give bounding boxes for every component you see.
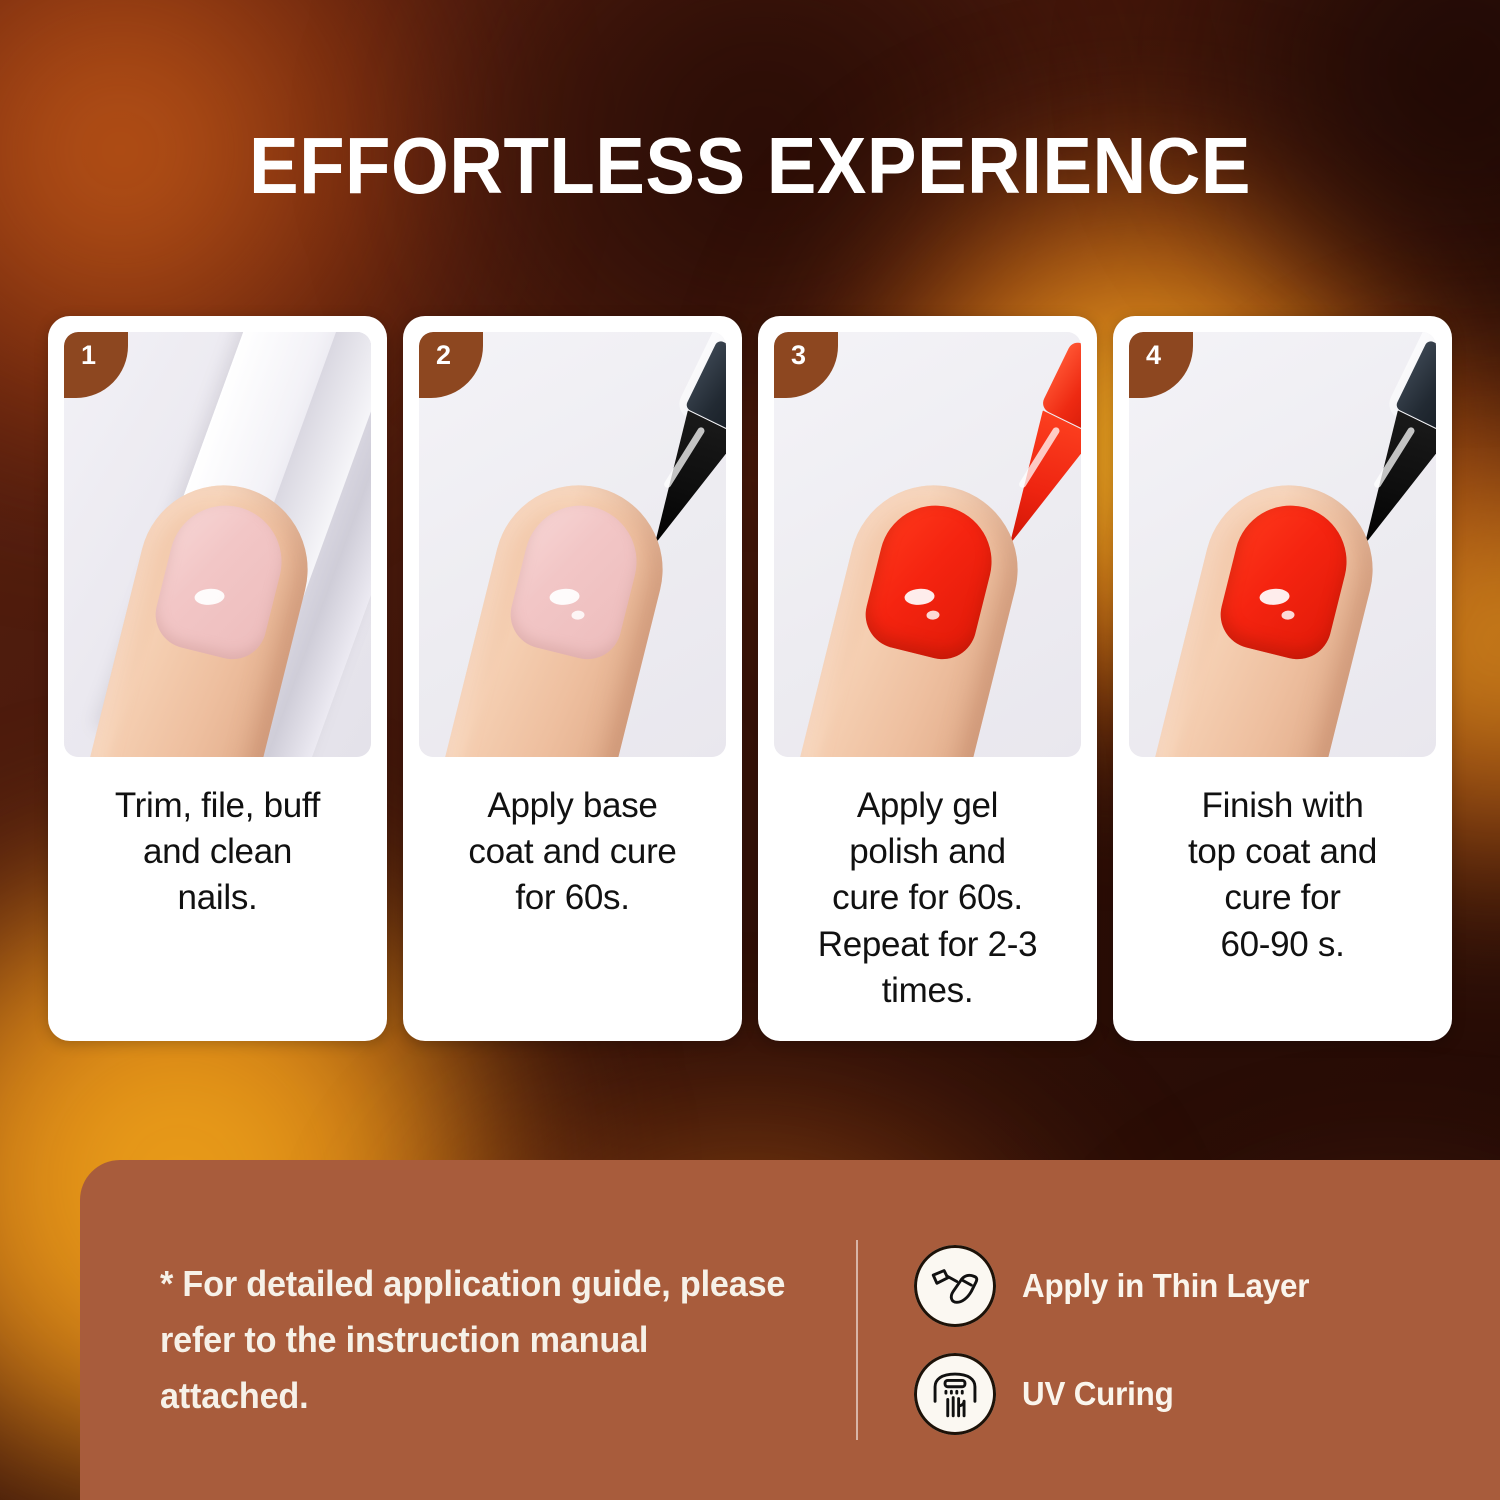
banner-divider bbox=[856, 1240, 858, 1440]
nail-highlight bbox=[1259, 588, 1290, 606]
nail-shape bbox=[858, 494, 1003, 667]
nail-highlight bbox=[904, 588, 935, 606]
step-card-2: 2 Apply base coat and cure for 60s. bbox=[403, 316, 742, 1041]
nail-highlight bbox=[549, 588, 580, 606]
scene-base-coat bbox=[419, 332, 726, 757]
footer-banner: * For detailed application guide, please… bbox=[80, 1160, 1500, 1500]
nail-highlight-small bbox=[571, 610, 585, 620]
steps-row: 1 Trim, file, buff and clean nails. bbox=[48, 316, 1452, 1041]
scene-trim-file bbox=[64, 332, 371, 757]
nail-highlight bbox=[194, 588, 225, 606]
feature-uv-curing-label: UV Curing bbox=[1022, 1375, 1174, 1413]
step-caption-3: Apply gel polish and cure for 60s. Repea… bbox=[774, 783, 1081, 1014]
nail-shape bbox=[148, 494, 293, 667]
feature-thin-layer: Apply in Thin Layer bbox=[914, 1245, 1324, 1327]
scene-gel-polish bbox=[774, 332, 1081, 757]
page-title: EFFORTLESS EXPERIENCE bbox=[53, 126, 1448, 206]
feature-uv-curing: UV Curing bbox=[914, 1353, 1324, 1435]
nail-shape bbox=[1213, 494, 1358, 667]
infographic-page: EFFORTLESS EXPERIENCE 1 Trim, file, buff… bbox=[0, 0, 1500, 1500]
nail-highlight-small bbox=[926, 610, 940, 620]
nail-shape bbox=[503, 494, 648, 667]
step-image-1: 1 bbox=[64, 332, 371, 757]
step-caption-1: Trim, file, buff and clean nails. bbox=[64, 783, 371, 922]
step-card-3: 3 Apply gel polish and cure for 60s. Rep… bbox=[758, 316, 1097, 1041]
step-image-4: 4 bbox=[1129, 332, 1436, 757]
nail-highlight-small bbox=[1281, 610, 1295, 620]
feature-list: Apply in Thin Layer UV Curing bbox=[914, 1245, 1324, 1435]
step-image-2: 2 bbox=[419, 332, 726, 757]
step-image-3: 3 bbox=[774, 332, 1081, 757]
instruction-note: * For detailed application guide, please… bbox=[160, 1256, 787, 1423]
step-caption-2: Apply base coat and cure for 60s. bbox=[419, 783, 726, 922]
uv-lamp-icon bbox=[914, 1353, 996, 1435]
feature-thin-layer-label: Apply in Thin Layer bbox=[1022, 1267, 1309, 1305]
step-card-4: 4 Finish with top coat and cure for 60-9… bbox=[1113, 316, 1452, 1041]
step-caption-4: Finish with top coat and cure for 60-90 … bbox=[1129, 783, 1436, 968]
thin-layer-brush-icon bbox=[914, 1245, 996, 1327]
step-card-1: 1 Trim, file, buff and clean nails. bbox=[48, 316, 387, 1041]
scene-top-coat bbox=[1129, 332, 1436, 757]
